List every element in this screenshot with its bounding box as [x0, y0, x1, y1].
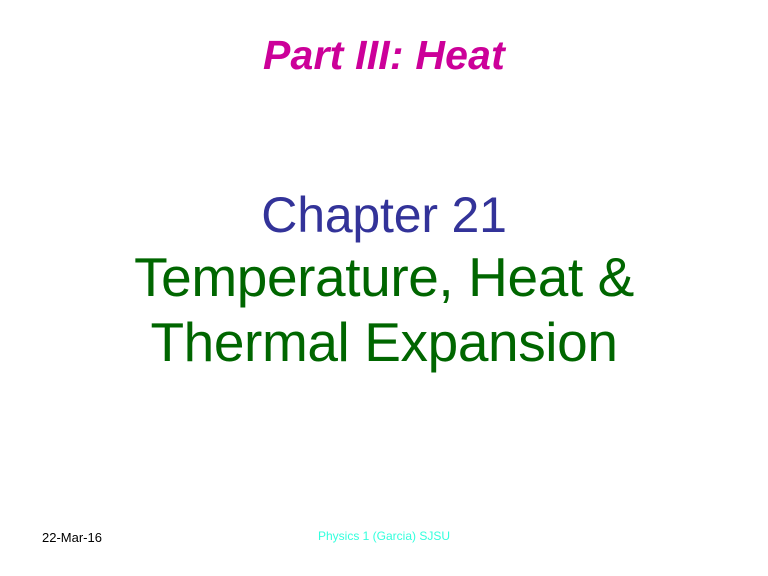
part-title: Part III: Heat	[0, 30, 768, 80]
title-line-subject-2: Thermal Expansion	[0, 310, 768, 375]
slide-canvas: Part III: Heat Chapter 21 Temperature, H…	[0, 0, 768, 576]
slide-title-block: Chapter 21 Temperature, Heat & Thermal E…	[0, 186, 768, 375]
title-line-subject-1: Temperature, Heat &	[0, 245, 768, 310]
footer-course-label: Physics 1 (Garcia) SJSU	[0, 529, 768, 543]
title-line-chapter: Chapter 21	[0, 186, 768, 245]
